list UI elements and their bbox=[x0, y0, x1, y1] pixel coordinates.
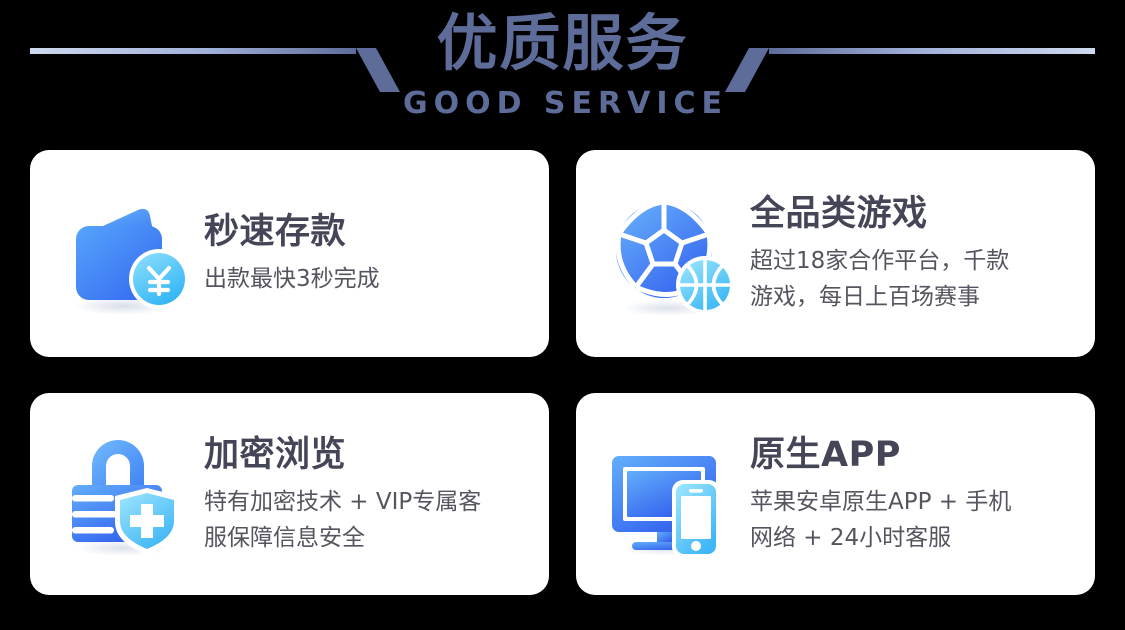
card-title: 加密浏览 bbox=[204, 433, 535, 477]
phone-screen bbox=[681, 496, 711, 539]
wallet-yen-icon-svg bbox=[54, 184, 194, 324]
good-service-banner: 优质服务 GOOD SERVICE bbox=[0, 0, 1125, 630]
header-title-block: 优质服务 GOOD SERVICE bbox=[0, 0, 1125, 121]
lock-shackle bbox=[92, 440, 144, 488]
card-description-line: 特有加密技术 + VIP专属客 bbox=[204, 484, 535, 520]
feature-card-all-category-games[interactable]: 全品类游戏 超过18家合作平台，千款 游戏，每日上百场赛事 bbox=[576, 150, 1095, 357]
phone-home-button bbox=[691, 541, 701, 551]
header: 优质服务 GOOD SERVICE bbox=[0, 0, 1125, 150]
basketball-seams bbox=[680, 260, 730, 310]
card-description-line: 游戏，每日上百场赛事 bbox=[750, 279, 1081, 315]
card-text-block: 全品类游戏 超过18家合作平台，千款 游戏，每日上百场赛事 bbox=[740, 192, 1081, 315]
phone-speaker bbox=[689, 489, 703, 493]
card-description-line: 超过18家合作平台，千款 bbox=[750, 243, 1081, 279]
card-description: 苹果安卓原生APP + 手机 网络 + 24小时客服 bbox=[750, 484, 1081, 556]
card-text-block: 原生APP 苹果安卓原生APP + 手机 网络 + 24小时客服 bbox=[740, 433, 1081, 556]
feature-card-native-app[interactable]: 原生APP 苹果安卓原生APP + 手机 网络 + 24小时客服 bbox=[576, 393, 1095, 595]
page-subtitle: GOOD SERVICE bbox=[0, 87, 1125, 121]
page-title: 优质服务 bbox=[0, 9, 1125, 79]
wallet-yen-icon bbox=[54, 184, 194, 324]
card-description-line: 出款最快3秒完成 bbox=[204, 261, 535, 297]
monitor-phone-icon bbox=[600, 424, 740, 564]
monitor-phone-icon-svg bbox=[600, 424, 740, 564]
card-description: 特有加密技术 + VIP专属客 服保障信息安全 bbox=[204, 484, 535, 556]
card-text-block: 秒速存款 出款最快3秒完成 bbox=[194, 210, 535, 297]
card-title: 原生APP bbox=[750, 433, 1081, 477]
card-description-line: 苹果安卓原生APP + 手机 bbox=[750, 484, 1081, 520]
card-title: 秒速存款 bbox=[204, 210, 535, 254]
card-description: 出款最快3秒完成 bbox=[204, 261, 535, 297]
soccer-basketball-icon-svg bbox=[600, 184, 740, 324]
card-description-line: 网络 + 24小时客服 bbox=[750, 520, 1081, 556]
card-description-line: 服保障信息安全 bbox=[204, 520, 535, 556]
feature-card-instant-deposit[interactable]: 秒速存款 出款最快3秒完成 bbox=[30, 150, 549, 357]
soccer-basketball-icon bbox=[600, 184, 740, 324]
lock-shield-icon bbox=[54, 424, 194, 564]
card-title: 全品类游戏 bbox=[750, 192, 1081, 236]
lock-shield-icon-svg bbox=[54, 424, 194, 564]
card-description: 超过18家合作平台，千款 游戏，每日上百场赛事 bbox=[750, 243, 1081, 315]
feature-card-encrypted-browsing[interactable]: 加密浏览 特有加密技术 + VIP专属客 服保障信息安全 bbox=[30, 393, 549, 595]
card-text-block: 加密浏览 特有加密技术 + VIP专属客 服保障信息安全 bbox=[194, 433, 535, 556]
feature-card-grid: 秒速存款 出款最快3秒完成 bbox=[30, 150, 1095, 595]
